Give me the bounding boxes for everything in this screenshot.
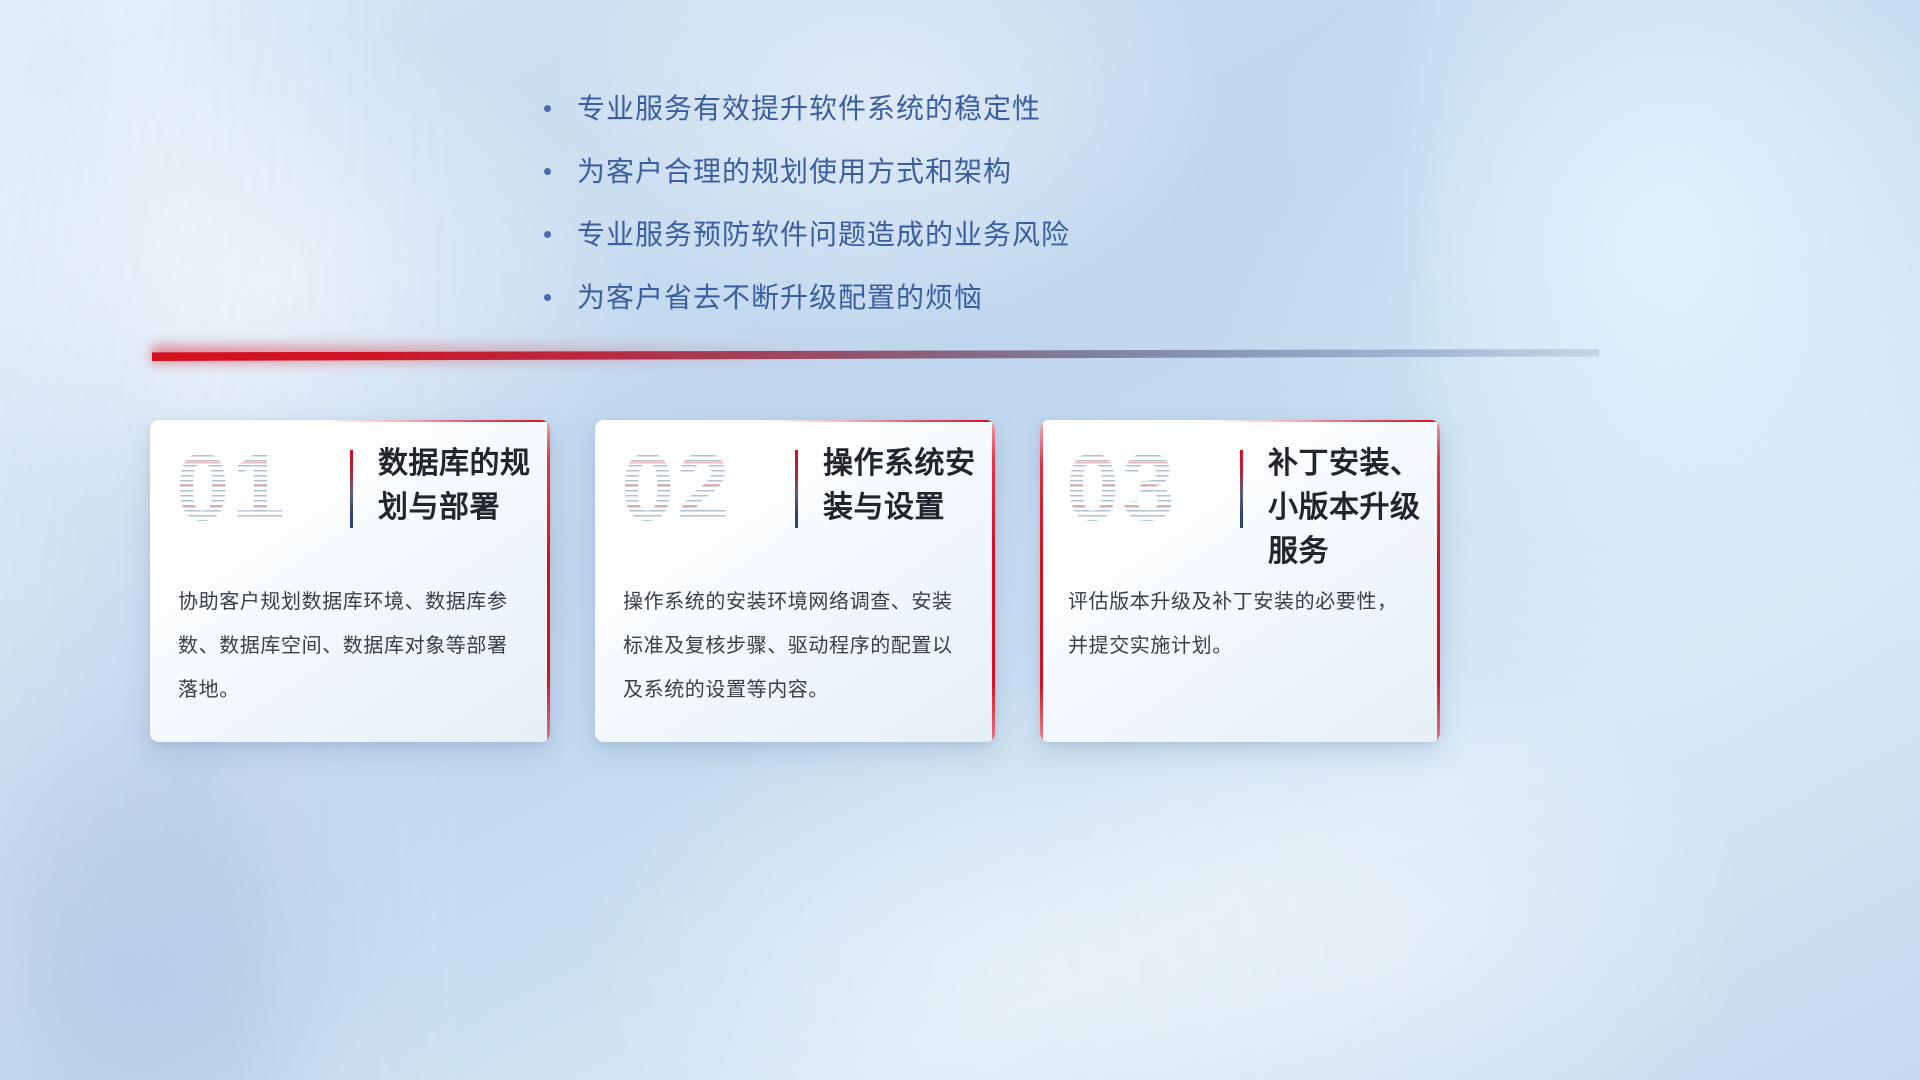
bullet-item-4: 为客户省去不断升级配置的烦恼 (538, 277, 1298, 318)
bullet-text: 专业服务预防软件问题造成的业务风险 (577, 214, 1070, 255)
bullet-text: 为客户省去不断升级配置的烦恼 (577, 277, 983, 318)
bullet-item-3: 专业服务预防软件问题造成的业务风险 (538, 214, 1298, 255)
card-header: 03 03 补丁安装、小版本升级服务 (1040, 420, 1440, 570)
bullet-dot-icon (544, 105, 551, 112)
background-glow-bottom-left (0, 700, 420, 1080)
card-body-text: 操作系统的安装环境网络调查、安装标准及复核步骤、驱动程序的配置以及系统的设置等内… (623, 580, 967, 712)
card-number-watermark-accent: 02 (621, 440, 732, 536)
bullet-text: 为客户合理的规划使用方式和架构 (577, 151, 1012, 192)
card-body-text: 协助客户规划数据库环境、数据库参数、数据库空间、数据库对象等部署落地。 (178, 580, 522, 712)
background-glow-right (1420, 0, 1920, 780)
card-title: 补丁安装、小版本升级服务 (1268, 442, 1428, 574)
service-card-03[interactable]: 03 03 补丁安装、小版本升级服务 评估版本升级及补丁安装的必要性，并提交实施… (1040, 420, 1440, 742)
benefits-bullet-list: 专业服务有效提升软件系统的稳定性 为客户合理的规划使用方式和架构 专业服务预防软… (538, 88, 1298, 340)
section-divider (152, 349, 1599, 361)
service-card-02[interactable]: 02 02 操作系统安装与设置 操作系统的安装环境网络调查、安装标准及复核步骤、… (595, 420, 995, 742)
card-title: 操作系统安装与设置 (823, 442, 983, 530)
card-title-divider (350, 450, 353, 528)
bullet-item-1: 专业服务有效提升软件系统的稳定性 (538, 88, 1298, 129)
bullet-dot-icon (544, 294, 551, 301)
card-number-watermark-accent: 03 (1066, 440, 1177, 536)
service-card-01[interactable]: 01 01 数据库的规划与部署 协助客户规划数据库环境、数据库参数、数据库空间、… (150, 420, 550, 742)
card-header: 01 01 数据库的规划与部署 (150, 420, 550, 570)
card-title-divider (795, 450, 798, 528)
card-title-divider (1240, 450, 1243, 528)
card-number-watermark-accent: 01 (176, 440, 287, 536)
bullet-item-2: 为客户合理的规划使用方式和架构 (538, 151, 1298, 192)
bullet-dot-icon (544, 231, 551, 238)
slide-canvas: 专业服务有效提升软件系统的稳定性 为客户合理的规划使用方式和架构 专业服务预防软… (0, 0, 1920, 1080)
bullet-text: 专业服务有效提升软件系统的稳定性 (577, 88, 1041, 129)
card-title: 数据库的规划与部署 (378, 442, 538, 530)
card-header: 02 02 操作系统安装与设置 (595, 420, 995, 570)
card-body-text: 评估版本升级及补丁安装的必要性，并提交实施计划。 (1068, 580, 1412, 668)
bullet-dot-icon (544, 168, 551, 175)
service-card-list: 01 01 数据库的规划与部署 协助客户规划数据库环境、数据库参数、数据库空间、… (150, 420, 1440, 742)
